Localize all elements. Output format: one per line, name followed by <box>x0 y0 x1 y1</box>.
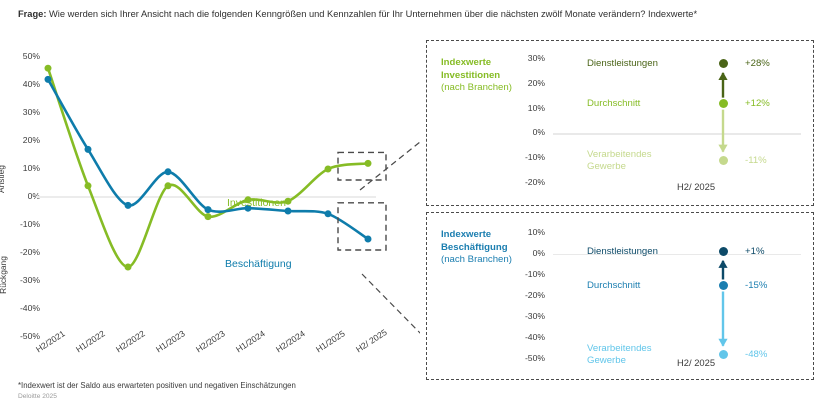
panel-y-axis-tick: 30% <box>503 53 545 63</box>
panel-data-point <box>719 156 728 165</box>
panel-besch-title-line1: Indexwerte <box>441 229 491 240</box>
panel-value-label: -15% <box>745 280 767 291</box>
panel-category-label: Dienstleistungen <box>587 58 658 69</box>
panel-y-axis-tick: 0% <box>503 127 545 137</box>
panel-category-label-line1: Verarbeitendes <box>587 343 652 354</box>
panel-value-label: +28% <box>745 58 770 69</box>
panel-besch-subtitle: (nach Branchen) <box>441 254 512 265</box>
main-trend-chart: 50%40%30%20%10%0%-10%-20%-30%-40%-50% An… <box>0 38 420 378</box>
trend-plot-area <box>0 38 420 378</box>
panel-value-label: +1% <box>745 246 764 257</box>
panel-y-axis-tick: -10% <box>503 269 545 279</box>
panel-y-axis-tick: -50% <box>503 353 545 363</box>
panel-data-point <box>719 350 728 359</box>
panel-besch-period-label: H2/ 2025 <box>677 357 715 368</box>
panel-category-label: VerarbeitendesGewerbe <box>587 343 652 368</box>
panel-category-label: VerarbeitendesGewerbe <box>587 149 652 174</box>
panel-y-axis-tick: 0% <box>503 248 545 258</box>
question-prefix: Frage: <box>18 9 46 19</box>
panel-y-axis-tick: -20% <box>503 290 545 300</box>
question-header: Frage: Wie werden sich Ihrer Ansicht nac… <box>18 8 808 20</box>
panel-invest-title-line2: Investitionen <box>441 70 500 81</box>
source-label: Deloitte 2025 <box>18 393 57 400</box>
panel-data-point <box>719 59 728 68</box>
panel-data-point <box>719 247 728 256</box>
panel-data-point <box>719 281 728 290</box>
panel-y-axis-tick: 10% <box>503 103 545 113</box>
panel-data-point <box>719 99 728 108</box>
panel-category-label: Durchschnitt <box>587 280 640 291</box>
series-label-investitionen: Investitionen <box>227 197 286 209</box>
panel-category-label-line2: Gewerbe <box>587 355 626 366</box>
panel-invest-title: Indexwerte Investitionen (nach Branchen) <box>441 57 512 95</box>
panel-besch-title: Indexwerte Beschäftigung (nach Branchen) <box>441 229 512 267</box>
panel-category-label-line2: Gewerbe <box>587 161 626 172</box>
panel-indexwerte-beschaeftigung: Indexwerte Beschäftigung (nach Branchen)… <box>426 212 814 380</box>
question-text: Wie werden sich Ihrer Ansicht nach die f… <box>46 9 697 19</box>
panel-value-label: -11% <box>745 155 767 166</box>
panel-y-axis-tick: -30% <box>503 311 545 321</box>
panel-invest-period-label: H2/ 2025 <box>677 181 715 192</box>
panel-y-axis-tick: 20% <box>503 78 545 88</box>
panel-value-label: -48% <box>745 349 767 360</box>
panel-indexwerte-investitionen: Indexwerte Investitionen (nach Branchen)… <box>426 40 814 206</box>
panel-category-label-line1: Verarbeitendes <box>587 149 652 160</box>
panel-y-axis-tick: -40% <box>503 332 545 342</box>
footnote-indexwert: *Indexwert ist der Saldo aus erwarteten … <box>18 381 296 390</box>
panel-category-label: Durchschnitt <box>587 98 640 109</box>
panel-y-axis-tick: -20% <box>503 177 545 187</box>
panel-invest-zero-line <box>553 133 801 134</box>
panel-value-label: +12% <box>745 98 770 109</box>
panel-invest-subtitle: (nach Branchen) <box>441 82 512 93</box>
series-label-beschaeftigung: Beschäftigung <box>225 258 292 270</box>
panel-besch-title-line2: Beschäftigung <box>441 242 508 253</box>
panel-y-axis-tick: 10% <box>503 227 545 237</box>
panel-category-label: Dienstleistungen <box>587 246 658 257</box>
panel-y-axis-tick: -10% <box>503 152 545 162</box>
panel-invest-title-line1: Indexwerte <box>441 57 491 68</box>
